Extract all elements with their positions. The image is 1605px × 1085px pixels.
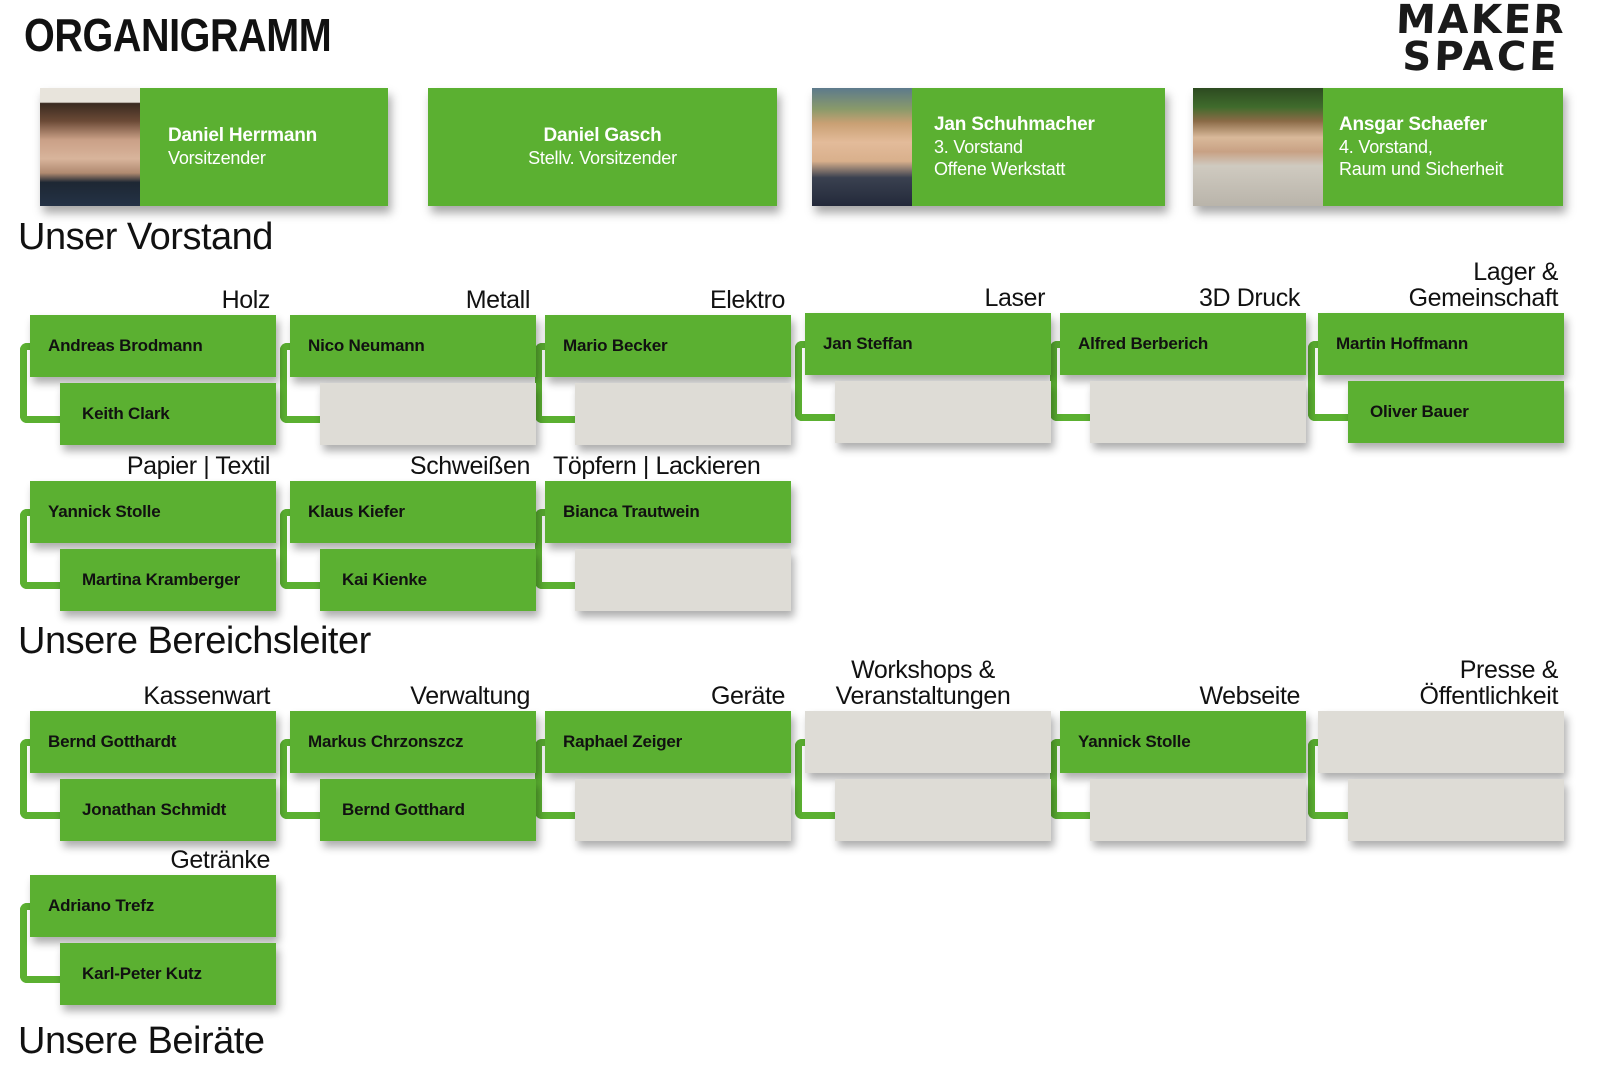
deputy-node[interactable]: Keith Clark bbox=[60, 383, 276, 445]
org-group-verwaltung: Verwaltung Markus Chrzonszcz Bernd Gotth… bbox=[280, 711, 536, 841]
group-label: Papier | Textil bbox=[20, 453, 270, 481]
deputy-node[interactable] bbox=[320, 383, 536, 445]
lead-node[interactable]: Jan Steffan bbox=[805, 313, 1051, 375]
lead-node[interactable]: Martin Hoffmann bbox=[1318, 313, 1564, 375]
group-label: Laser bbox=[795, 285, 1045, 313]
lead-name: Nico Neumann bbox=[290, 336, 425, 356]
board-card-3[interactable]: Ansgar Schaefer 4. Vorstand, Raum und Si… bbox=[1193, 88, 1563, 206]
section-heading-board: Unser Vorstand bbox=[18, 216, 273, 259]
lead-name: Alfred Berberich bbox=[1060, 334, 1208, 354]
board-member-role: 4. Vorstand, bbox=[1339, 137, 1553, 159]
lead-name: Andreas Brodmann bbox=[30, 336, 203, 356]
deputy-node[interactable]: Kai Kienke bbox=[320, 549, 536, 611]
org-group-lager-gemeinschaft: Lager & Gemeinschaft Martin Hoffmann Oli… bbox=[1308, 313, 1564, 443]
org-group-laser: Laser Jan Steffan bbox=[795, 313, 1051, 443]
deputy-name: Martina Kramberger bbox=[60, 570, 240, 590]
lead-name: Bernd Gotthardt bbox=[30, 732, 176, 752]
org-group-presse-oeffentlichkeit: Presse & Öffentlichkeit bbox=[1308, 711, 1564, 841]
lead-name: Adriano Trefz bbox=[30, 896, 154, 916]
deputy-name: Jonathan Schmidt bbox=[60, 800, 226, 820]
group-label: Webseite bbox=[1050, 683, 1300, 711]
group-label: Verwaltung bbox=[280, 683, 530, 711]
lead-node[interactable]: Alfred Berberich bbox=[1060, 313, 1306, 375]
board-member-role: Vorsitzender bbox=[168, 148, 378, 170]
lead-name: Jan Steffan bbox=[805, 334, 912, 354]
lead-name: Markus Chrzonszcz bbox=[290, 732, 463, 752]
board-member-name: Daniel Herrmann bbox=[168, 124, 378, 147]
board-member-name: Ansgar Schaefer bbox=[1339, 113, 1553, 136]
board-member-role: 3. Vorstand bbox=[934, 137, 1155, 159]
board-member-role: Stellv. Vorsitzender bbox=[528, 148, 677, 170]
board-member-name: Jan Schuhmacher bbox=[934, 113, 1155, 136]
deputy-node[interactable]: Martina Kramberger bbox=[60, 549, 276, 611]
lead-node[interactable]: Adriano Trefz bbox=[30, 875, 276, 937]
deputy-node[interactable] bbox=[1090, 381, 1306, 443]
deputy-node[interactable] bbox=[1090, 779, 1306, 841]
org-group-webseite: Webseite Yannick Stolle bbox=[1050, 711, 1306, 841]
board-member-role-2: Raum und Sicherheit bbox=[1339, 159, 1553, 181]
deputy-node[interactable]: Oliver Bauer bbox=[1348, 381, 1564, 443]
group-label: Töpfern | Lackieren bbox=[553, 453, 760, 481]
group-label: Workshops & Veranstaltungen bbox=[795, 657, 1051, 711]
section-heading-area-managers: Unsere Bereichsleiter bbox=[18, 620, 371, 663]
deputy-node[interactable]: Bernd Gotthard bbox=[320, 779, 536, 841]
deputy-node[interactable] bbox=[575, 549, 791, 611]
deputy-name: Karl-Peter Kutz bbox=[60, 964, 202, 984]
org-group-geraete: Geräte Raphael Zeiger bbox=[535, 711, 791, 841]
board-card-0[interactable]: Daniel Herrmann Vorsitzender bbox=[40, 88, 388, 206]
org-group-3d-druck: 3D Druck Alfred Berberich bbox=[1050, 313, 1306, 443]
lead-node[interactable]: Yannick Stolle bbox=[30, 481, 276, 543]
lead-node[interactable] bbox=[1318, 711, 1564, 773]
org-group-workshops-veranstaltungen: Workshops & Veranstaltungen bbox=[795, 711, 1051, 841]
deputy-name: Oliver Bauer bbox=[1348, 402, 1469, 422]
lead-node[interactable]: Yannick Stolle bbox=[1060, 711, 1306, 773]
group-label: Holz bbox=[20, 287, 270, 315]
organigramm-page: ORGANIGRAMM MAKER SPACE Daniel Herrmann … bbox=[0, 0, 1605, 1085]
lead-node[interactable]: Mario Becker bbox=[545, 315, 791, 377]
avatar bbox=[40, 88, 140, 206]
group-label: Elektro bbox=[535, 287, 785, 315]
lead-name: Martin Hoffmann bbox=[1318, 334, 1468, 354]
board-card-1[interactable]: Daniel Gasch Stellv. Vorsitzender bbox=[428, 88, 777, 206]
lead-node[interactable]: Bianca Trautwein bbox=[545, 481, 791, 543]
org-group-holz: Holz Andreas Brodmann Keith Clark bbox=[20, 315, 276, 445]
lead-name: Yannick Stolle bbox=[1060, 732, 1190, 752]
logo-line-space: SPACE bbox=[1370, 39, 1591, 76]
avatar bbox=[812, 88, 912, 206]
lead-name: Klaus Kiefer bbox=[290, 502, 405, 522]
makerspace-logo: MAKER SPACE bbox=[1371, 2, 1591, 76]
org-group-getraenke: Getränke Adriano Trefz Karl-Peter Kutz bbox=[20, 875, 276, 1005]
deputy-node[interactable] bbox=[575, 383, 791, 445]
lead-name: Bianca Trautwein bbox=[545, 502, 700, 522]
deputy-node[interactable] bbox=[835, 381, 1051, 443]
lead-node[interactable]: Markus Chrzonszcz bbox=[290, 711, 536, 773]
lead-node[interactable]: Klaus Kiefer bbox=[290, 481, 536, 543]
section-heading-advisors: Unsere Beiräte bbox=[18, 1020, 264, 1063]
deputy-name: Keith Clark bbox=[60, 404, 170, 424]
group-label: Presse & Öffentlichkeit bbox=[1308, 657, 1558, 711]
group-label: Metall bbox=[280, 287, 530, 315]
lead-node[interactable]: Nico Neumann bbox=[290, 315, 536, 377]
deputy-node[interactable] bbox=[1348, 779, 1564, 841]
org-group-elektro: Elektro Mario Becker bbox=[535, 315, 791, 445]
org-group-toepfern-lackieren: Töpfern | Lackieren Bianca Trautwein bbox=[535, 481, 791, 611]
deputy-name: Kai Kienke bbox=[320, 570, 427, 590]
lead-node[interactable]: Bernd Gotthardt bbox=[30, 711, 276, 773]
board-card-2[interactable]: Jan Schuhmacher 3. Vorstand Offene Werks… bbox=[812, 88, 1165, 206]
lead-name: Yannick Stolle bbox=[30, 502, 160, 522]
group-label: Getränke bbox=[20, 847, 270, 875]
group-label: 3D Druck bbox=[1050, 285, 1300, 313]
lead-node[interactable]: Andreas Brodmann bbox=[30, 315, 276, 377]
deputy-name: Bernd Gotthard bbox=[320, 800, 465, 820]
page-title: ORGANIGRAMM bbox=[24, 8, 331, 62]
avatar bbox=[1193, 88, 1323, 206]
lead-node[interactable]: Raphael Zeiger bbox=[545, 711, 791, 773]
deputy-node[interactable]: Karl-Peter Kutz bbox=[60, 943, 276, 1005]
org-group-metall: Metall Nico Neumann bbox=[280, 315, 536, 445]
lead-node[interactable] bbox=[805, 711, 1051, 773]
deputy-node[interactable]: Jonathan Schmidt bbox=[60, 779, 276, 841]
org-group-papier-textil: Papier | Textil Yannick Stolle Martina K… bbox=[20, 481, 276, 611]
org-group-schweissen: Schweißen Klaus Kiefer Kai Kienke bbox=[280, 481, 536, 611]
org-group-kassenwart: Kassenwart Bernd Gotthardt Jonathan Schm… bbox=[20, 711, 276, 841]
deputy-node[interactable] bbox=[835, 779, 1051, 841]
board-member-role-2: Offene Werkstatt bbox=[934, 159, 1155, 181]
group-label: Lager & Gemeinschaft bbox=[1308, 259, 1558, 313]
lead-name: Mario Becker bbox=[545, 336, 667, 356]
deputy-node[interactable] bbox=[575, 779, 791, 841]
group-label: Schweißen bbox=[280, 453, 530, 481]
group-label: Geräte bbox=[535, 683, 785, 711]
group-label: Kassenwart bbox=[20, 683, 270, 711]
board-member-name: Daniel Gasch bbox=[544, 124, 662, 147]
lead-name: Raphael Zeiger bbox=[545, 732, 682, 752]
